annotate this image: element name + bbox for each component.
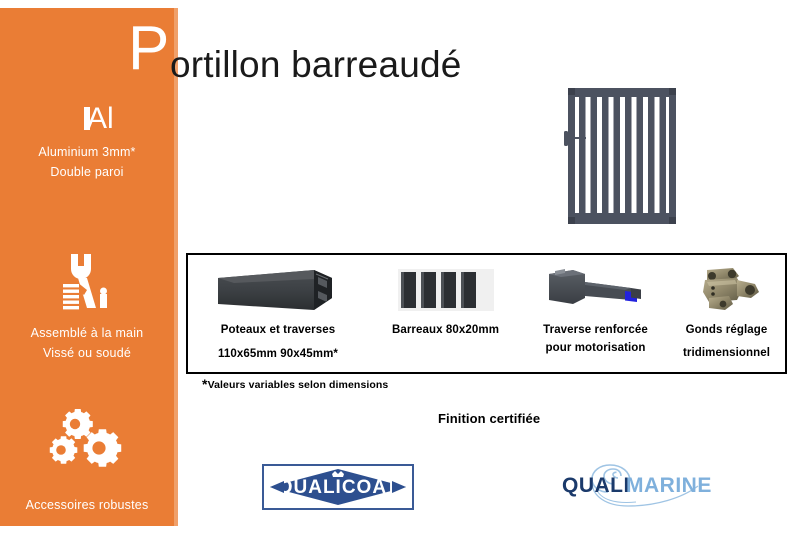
specification-box: Poteaux et traverses 110x65mm 90x45mm* [186, 253, 787, 374]
spec-item-bars: Barreaux 80x20mm [368, 255, 523, 372]
sidebar-feature-assembly-line1: Assemblé à la main [0, 323, 174, 343]
spec-item-posts-line1: Poteaux et traverses [221, 324, 336, 336]
page-title-dropcap: P [128, 18, 169, 80]
spec-item-hinge-caption: Gonds réglage tridimensionnel [668, 321, 785, 362]
sidebar-feature-aluminium: Al Aluminium 3mm* Double paroi [0, 110, 174, 182]
spec-item-reinforced-rail-line1: Traverse renforcée [543, 324, 648, 336]
spec-item-bars-line1: Barreaux 80x20mm [392, 324, 499, 336]
sidebar-feature-accessories-line1: Accessoires robustes [0, 495, 174, 515]
aluminium-square-icon: Al [0, 110, 174, 128]
post-and-rail-profile-icon [188, 255, 368, 321]
spec-item-hinge-line1: Gonds réglage [686, 324, 768, 336]
gears-icon [0, 404, 174, 479]
qualimarine-logo: QUALI MARINE [556, 462, 716, 510]
gate-illustration [562, 84, 682, 237]
spec-item-hinge: Gonds réglage tridimensionnel [668, 255, 785, 372]
sidebar-feature-assembly: Assemblé à la main Vissé ou soudé [0, 252, 174, 363]
footnote: *Valeurs variables selon dimensions [202, 379, 388, 391]
sidebar-feature-accessories: Accessoires robustes [0, 404, 174, 515]
wrench-bolt-icon [0, 252, 174, 317]
product-sheet-page: Al Aluminium 3mm* Double paroi [0, 0, 800, 534]
reinforced-rail-icon [523, 255, 668, 321]
qualicoat-logo: QUALICOAT [262, 464, 414, 510]
bars-profile-icon [368, 255, 523, 321]
spec-item-reinforced-rail-line2: pour motorisation [523, 339, 668, 357]
spec-item-posts: Poteaux et traverses 110x65mm 90x45mm* [188, 255, 368, 372]
qualimarine-wordmark-bold: QUALI [562, 474, 630, 497]
spec-item-bars-caption: Barreaux 80x20mm [368, 321, 523, 339]
spec-item-posts-line2: 110x65mm 90x45mm* [188, 345, 368, 363]
sidebar-feature-aluminium-line1: Aluminium 3mm* [0, 142, 174, 162]
finition-label: Finition certifiée [438, 411, 540, 426]
spec-item-reinforced-rail-caption: Traverse renforcée pour motorisation [523, 321, 668, 357]
spec-item-hinge-line2: tridimensionnel [668, 344, 785, 362]
qualicoat-wordmark: QUALICOAT [278, 477, 399, 498]
qualimarine-wordmark-light: MARINE [626, 474, 712, 497]
sidebar-feature-assembly-line2: Vissé ou soudé [0, 343, 174, 363]
adjustable-hinge-icon [668, 255, 785, 321]
footnote-text: Valeurs variables selon dimensions [208, 379, 389, 391]
sidebar-feature-aluminium-line2: Double paroi [0, 162, 174, 182]
spec-item-posts-caption: Poteaux et traverses 110x65mm 90x45mm* [188, 321, 368, 363]
page-title-text: ortillon barreaudé [170, 44, 462, 86]
spec-item-reinforced-rail: Traverse renforcée pour motorisation [523, 255, 668, 372]
